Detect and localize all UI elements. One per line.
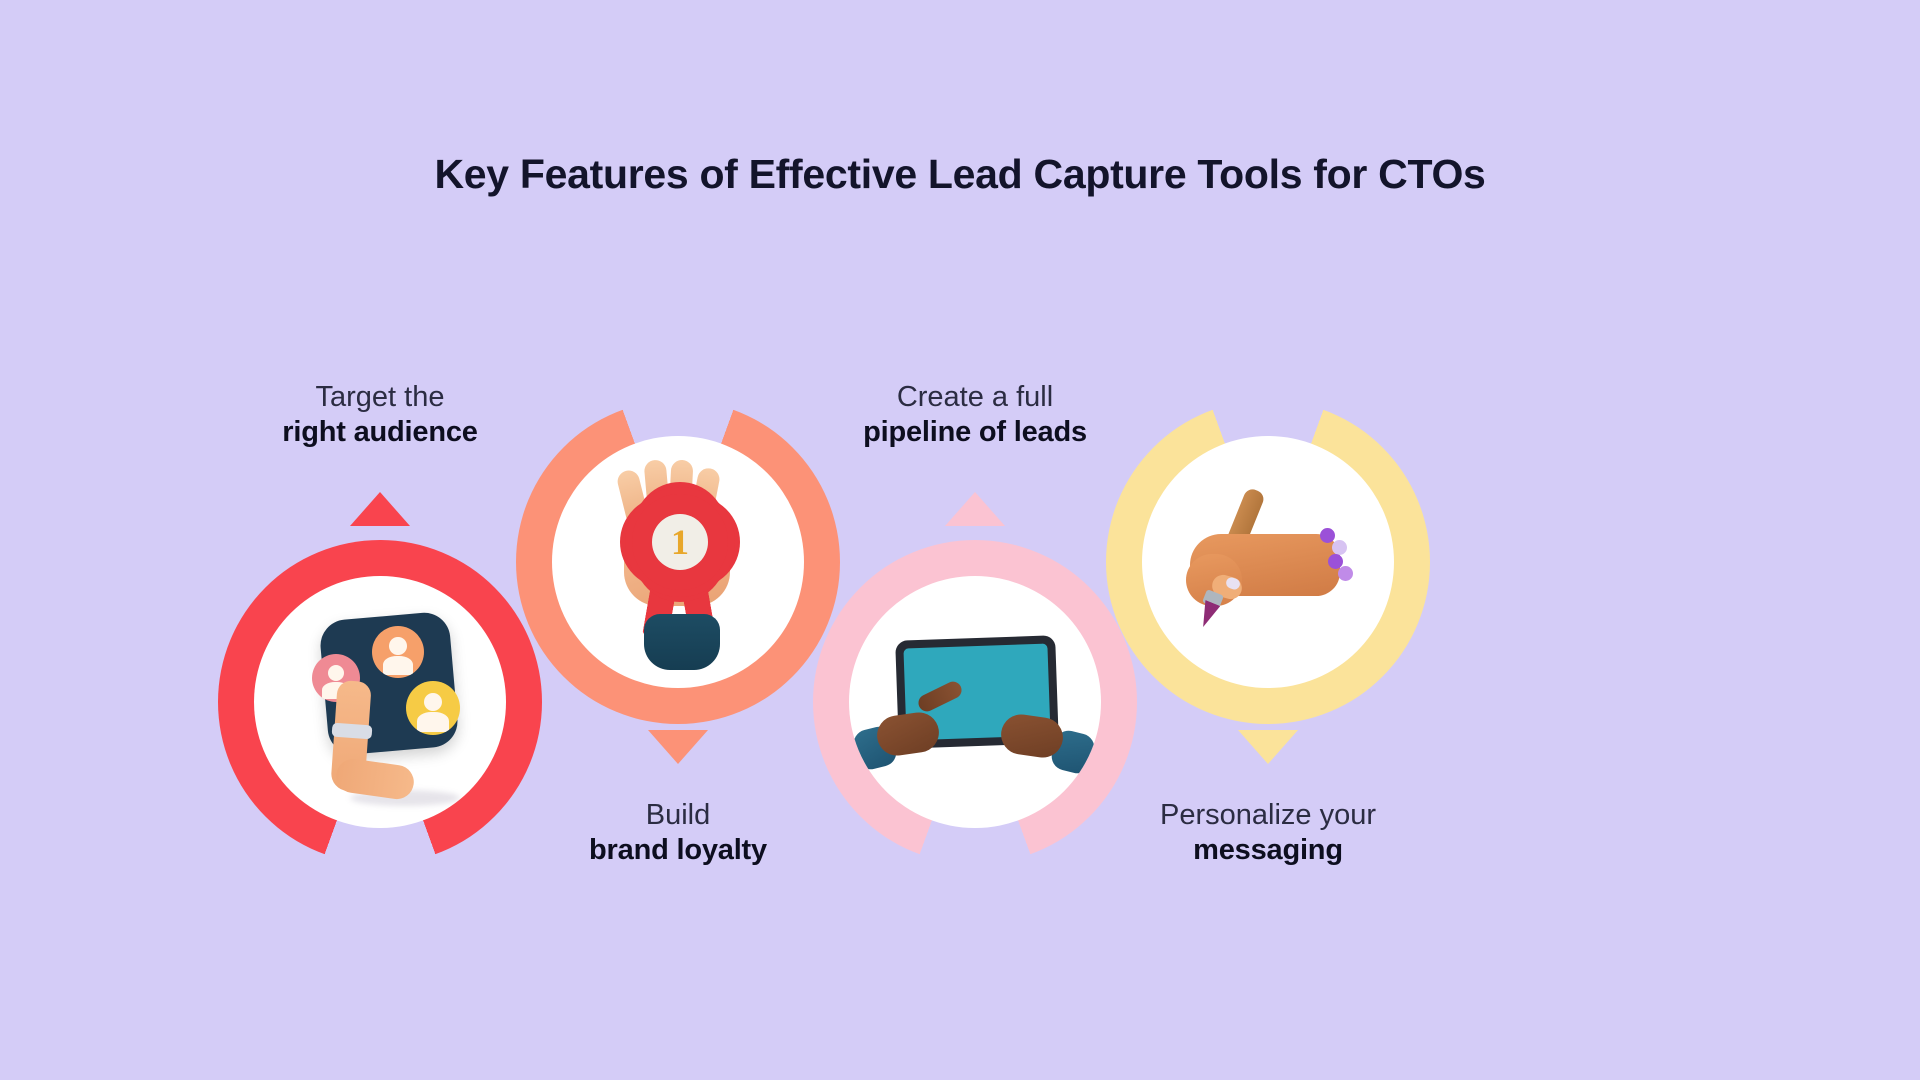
badge-2[interactable]: 1 [516, 400, 840, 724]
hand-holding-award-ribbon-icon: 1 [552, 436, 804, 688]
badge-4[interactable] [1106, 400, 1430, 724]
steps-container: Target the right audience [0, 0, 1920, 1080]
pointer-up-icon [350, 492, 410, 526]
badge-inner-circle [1142, 436, 1394, 688]
pointer-up-icon [945, 492, 1005, 526]
badge-inner-circle: 1 [552, 436, 804, 688]
step-personalize-your-messaging[interactable]: Personalize your messaging [1088, 400, 1448, 1080]
step-label-4: Personalize your messaging [1088, 798, 1448, 869]
pointer-down-icon [648, 730, 708, 764]
pointer-down-icon [1238, 730, 1298, 764]
hands-holding-tablet-icon [849, 576, 1101, 828]
medal-number: 1 [652, 514, 708, 570]
step-label-line1: Personalize your [1088, 798, 1448, 833]
badge-inner-circle [849, 576, 1101, 828]
step-label-line2: messaging [1088, 833, 1448, 868]
badge-1[interactable] [218, 540, 542, 864]
hand-holding-contacts-card-icon [254, 576, 506, 828]
hand-writing-with-pencil-icon [1142, 436, 1394, 688]
badge-inner-circle [254, 576, 506, 828]
